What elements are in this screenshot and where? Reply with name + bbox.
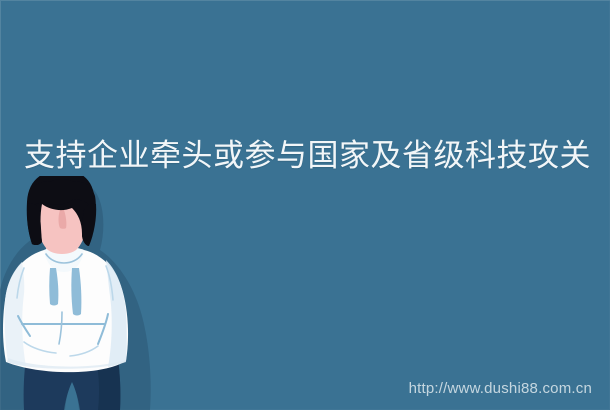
right-drawstring xyxy=(71,268,81,316)
hoodie-group xyxy=(3,247,128,372)
person-illustration-svg xyxy=(0,176,180,410)
poster-canvas: 支持企业牵头或参与国家及省级科技攻关 xyxy=(0,0,610,410)
page-title: 支持企业牵头或参与国家及省级科技攻关 xyxy=(24,136,604,176)
watermark-url: http://www.dushi88.com.cn xyxy=(409,380,592,398)
illustration-person-hoodie xyxy=(0,176,180,410)
